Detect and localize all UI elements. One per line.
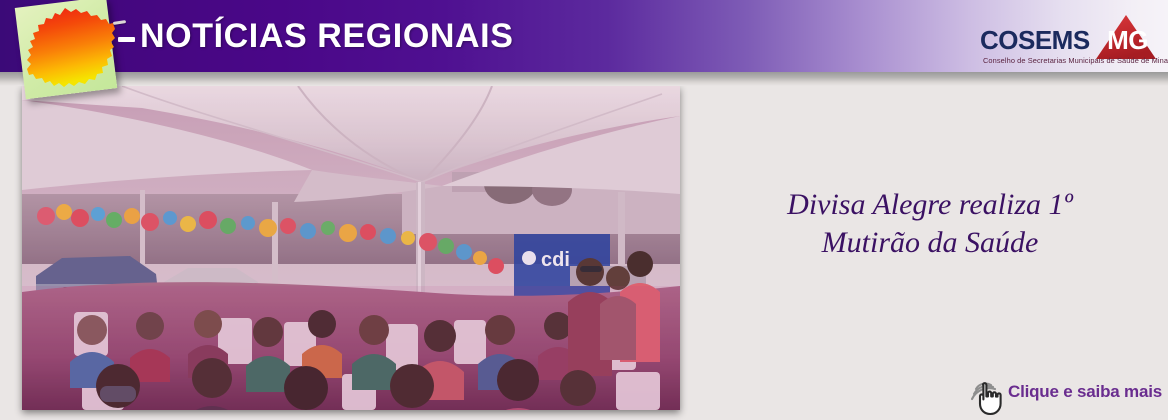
cosems-mg-logo: COSEMS MG Conselho de Secretarias Munici…: [980, 14, 1160, 70]
header-underline-shadow: [0, 72, 1168, 86]
page-title: NOTÍCIAS REGIONAIS: [140, 17, 514, 56]
read-more-button[interactable]: Clique e saiba mais: [966, 372, 1166, 418]
logo-mg-text: MG: [1107, 25, 1148, 56]
regional-news-banner: NOTÍCIAS REGIONAIS: [0, 0, 1168, 420]
headline-line-1: Divisa Alegre realiza 1º: [700, 186, 1160, 224]
read-more-label: Clique e saiba mais: [1008, 382, 1162, 402]
click-hand-icon: [966, 372, 1012, 418]
minas-gerais-map-icon: [18, 0, 128, 104]
news-headline: Divisa Alegre realiza 1º Mutirão da Saúd…: [700, 186, 1160, 262]
logo-cosems-text: COSEMS: [980, 25, 1090, 56]
news-photo-image: cdi: [22, 86, 680, 410]
news-photo[interactable]: cdi: [22, 86, 680, 410]
minas-gerais-map-note: [12, 0, 138, 106]
headline-line-2: Mutirão da Saúde: [700, 224, 1160, 262]
logo-tagline: Conselho de Secretarias Municipais de Sa…: [983, 56, 1160, 65]
